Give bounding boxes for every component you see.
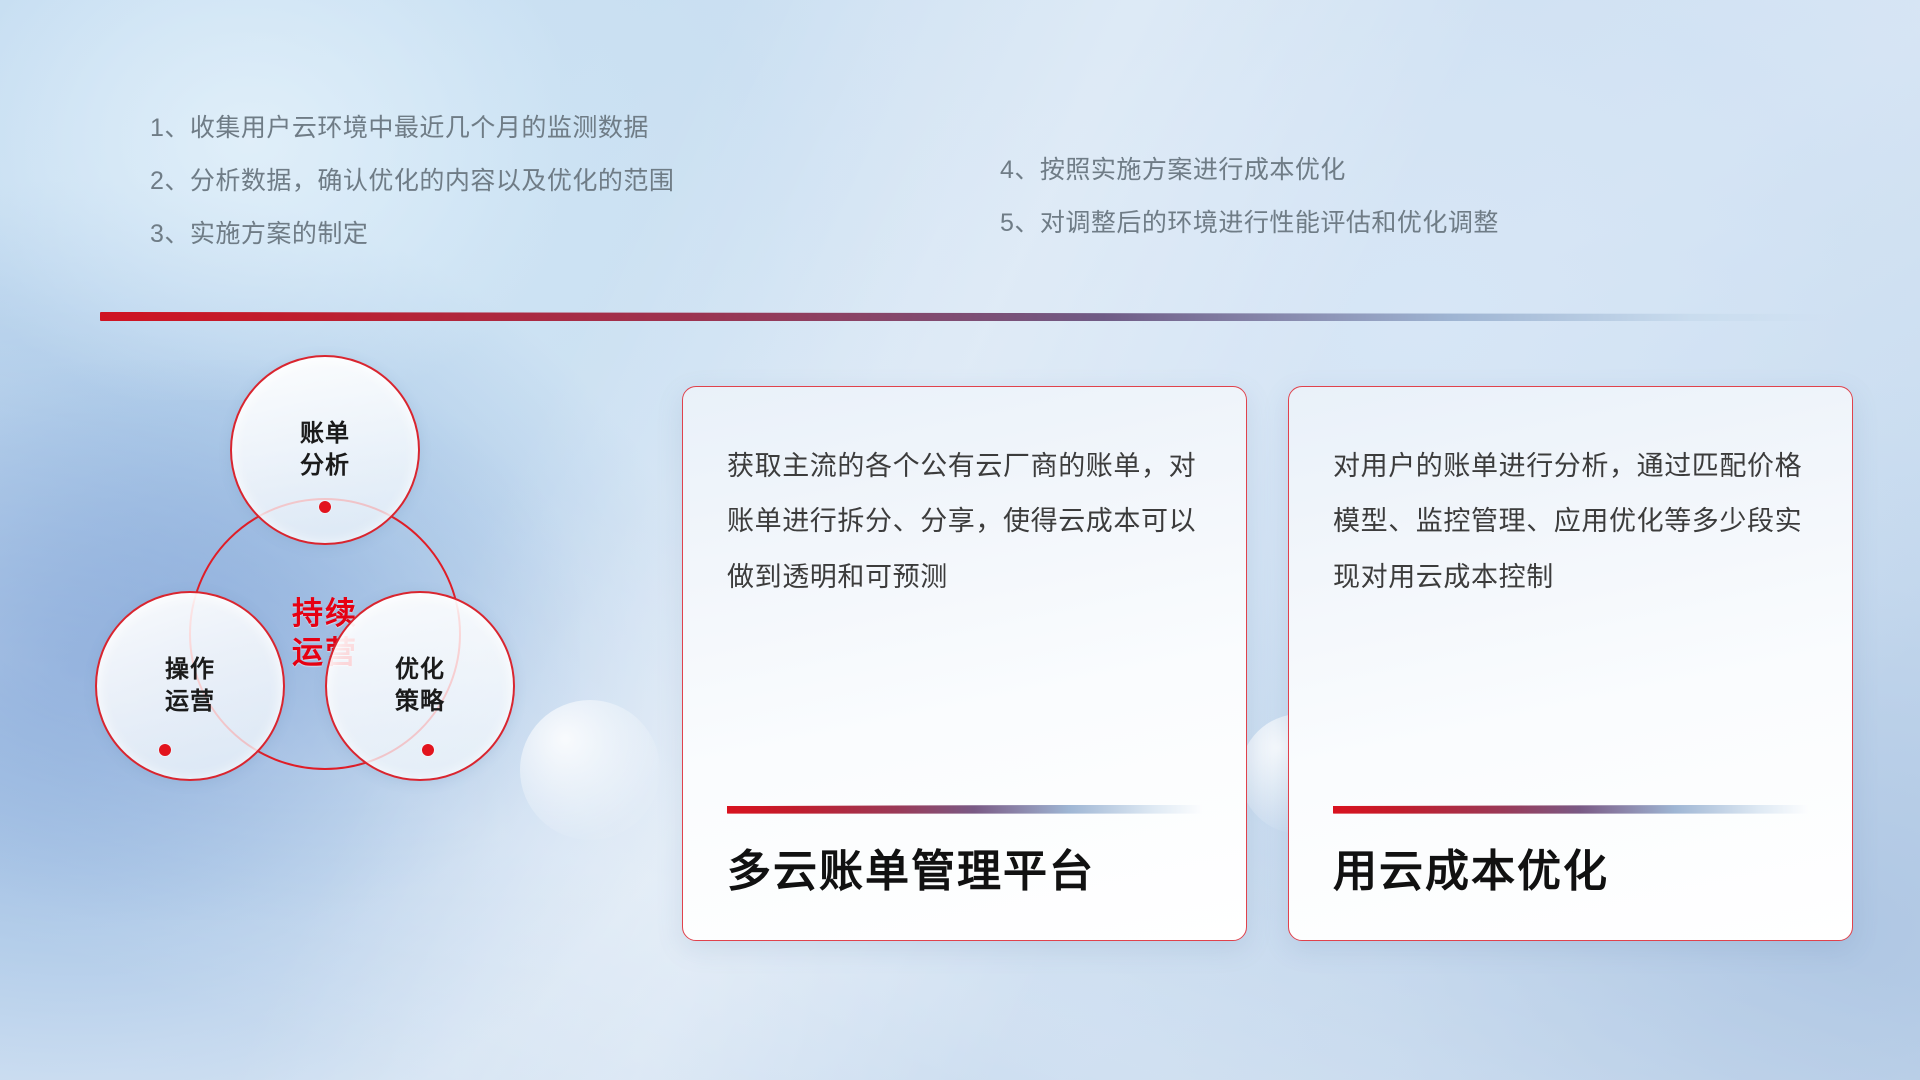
step-text: 实施方案的制定 <box>190 222 369 247</box>
step-item: 1、 收集用户云环境中最近几个月的监测数据 <box>150 116 674 141</box>
venn-diagram: 持续 运营 账单 分析 操作 运营 优化 策略 <box>95 355 565 775</box>
venn-top-label-line1: 账单 <box>300 418 350 450</box>
step-number: 2、 <box>150 169 190 194</box>
info-card-cloud-cost-optimization[interactable]: 对用户的账单进行分析，通过匹配价格模型、监控管理、应用优化等多少段实现对用云成本… <box>1288 386 1853 941</box>
card-body-text: 对用户的账单进行分析，通过匹配价格模型、监控管理、应用优化等多少段实现对用云成本… <box>1333 439 1808 605</box>
step-number: 1、 <box>150 116 190 141</box>
step-number: 4、 <box>1000 158 1040 183</box>
venn-circle-optimization-strategy: 优化 策略 <box>325 591 515 781</box>
steps-left-column: 1、 收集用户云环境中最近几个月的监测数据 2、 分析数据，确认优化的内容以及优… <box>150 116 674 247</box>
step-text: 按照实施方案进行成本优化 <box>1040 158 1346 183</box>
card-accent-rule <box>727 805 1202 814</box>
info-card-multicloud-billing[interactable]: 获取主流的各个公有云厂商的账单，对账单进行拆分、分享，使得云成本可以做到透明和可… <box>682 386 1247 941</box>
venn-circle-billing-analysis: 账单 分析 <box>230 355 420 545</box>
step-item: 5、 对调整后的环境进行性能评估和优化调整 <box>1000 211 1499 236</box>
step-item: 4、 按照实施方案进行成本优化 <box>1000 158 1499 183</box>
venn-bottom-right-label-line1: 优化 <box>395 654 445 686</box>
card-accent-rule <box>1333 805 1808 814</box>
venn-bottom-left-label-line2: 运营 <box>165 686 215 718</box>
venn-node-dot-top-icon <box>319 501 331 513</box>
step-text: 收集用户云环境中最近几个月的监测数据 <box>190 116 649 141</box>
step-text: 分析数据，确认优化的内容以及优化的范围 <box>190 169 675 194</box>
step-item: 3、 实施方案的制定 <box>150 222 674 247</box>
venn-circle-operations: 操作 运营 <box>95 591 285 781</box>
venn-node-dot-bottom-left-icon <box>159 744 171 756</box>
venn-bottom-left-label-line1: 操作 <box>165 654 215 686</box>
card-title: 用云成本优化 <box>1333 848 1808 896</box>
step-number: 3、 <box>150 222 190 247</box>
venn-node-dot-bottom-right-icon <box>422 744 434 756</box>
venn-bottom-right-label-line2: 策略 <box>395 686 445 718</box>
card-title: 多云账单管理平台 <box>727 848 1202 896</box>
step-number: 5、 <box>1000 211 1040 236</box>
steps-right-column: 4、 按照实施方案进行成本优化 5、 对调整后的环境进行性能评估和优化调整 <box>1000 158 1499 236</box>
step-item: 2、 分析数据，确认优化的内容以及优化的范围 <box>150 169 674 194</box>
card-body-text: 获取主流的各个公有云厂商的账单，对账单进行拆分、分享，使得云成本可以做到透明和可… <box>727 439 1202 605</box>
step-text: 对调整后的环境进行性能评估和优化调整 <box>1040 211 1499 236</box>
venn-top-label-line2: 分析 <box>300 450 350 482</box>
